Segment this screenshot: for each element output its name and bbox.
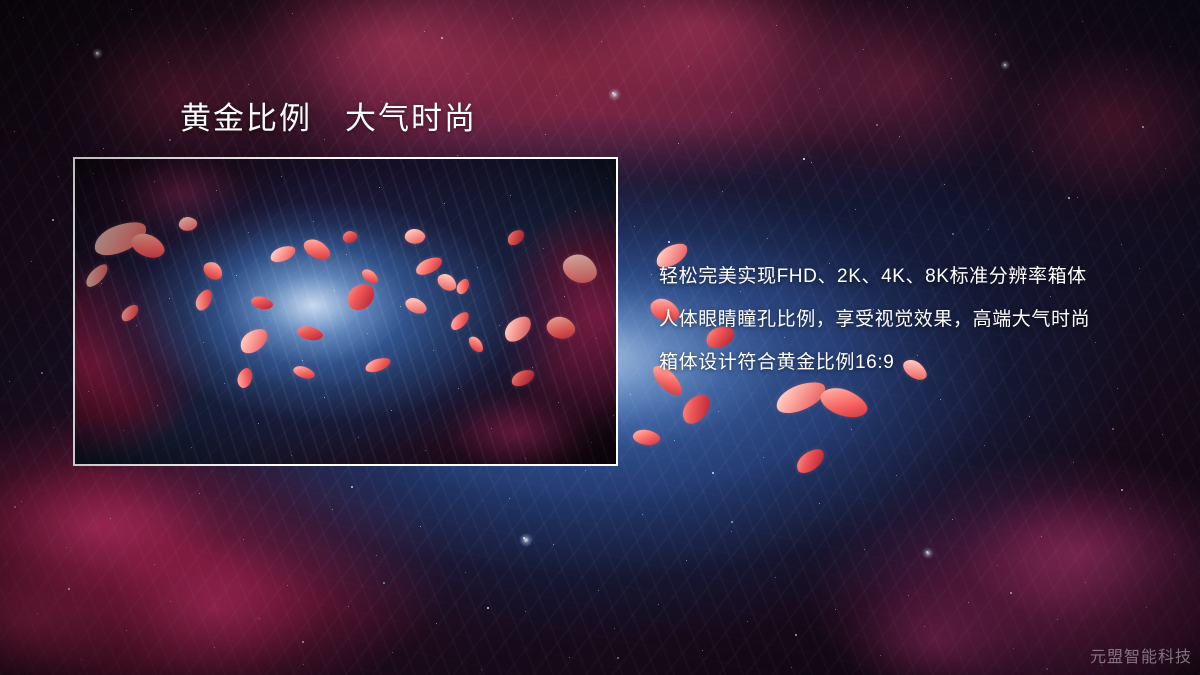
- star-bloom-icon: [519, 533, 533, 547]
- star-bloom-icon: [92, 48, 103, 59]
- nebula-petal-photo: [75, 159, 616, 464]
- starfield-colored: [0, 0, 2, 2]
- body-line-1: 轻松完美实现FHD、2K、4K、8K标准分辨率箱体: [659, 255, 1090, 298]
- watermark: 元盟智能科技: [1090, 643, 1192, 667]
- star-bloom-icon: [1000, 60, 1010, 70]
- petal-decoration: [677, 390, 716, 428]
- presentation-slide: 黄金比例 大气时尚 轻松完美实现FHD、2K、4K、8K标准分辨率箱体 人体眼睛…: [0, 0, 1200, 675]
- framed-image[interactable]: [73, 157, 618, 466]
- petal-decoration: [632, 427, 662, 448]
- inner-vignette: [75, 159, 616, 464]
- body-text-block: 轻松完美实现FHD、2K、4K、8K标准分辨率箱体 人体眼睛瞳孔比例，享受视觉效…: [659, 255, 1090, 384]
- petal-decoration: [793, 445, 829, 476]
- body-line-3: 箱体设计符合黄金比例16:9: [659, 341, 1090, 384]
- page-title: 黄金比例 大气时尚: [180, 100, 477, 137]
- body-line-2: 人体眼睛瞳孔比例，享受视觉效果，高端大气时尚: [659, 298, 1090, 341]
- star-bloom-icon: [608, 88, 621, 101]
- star-bloom-icon: [922, 547, 934, 559]
